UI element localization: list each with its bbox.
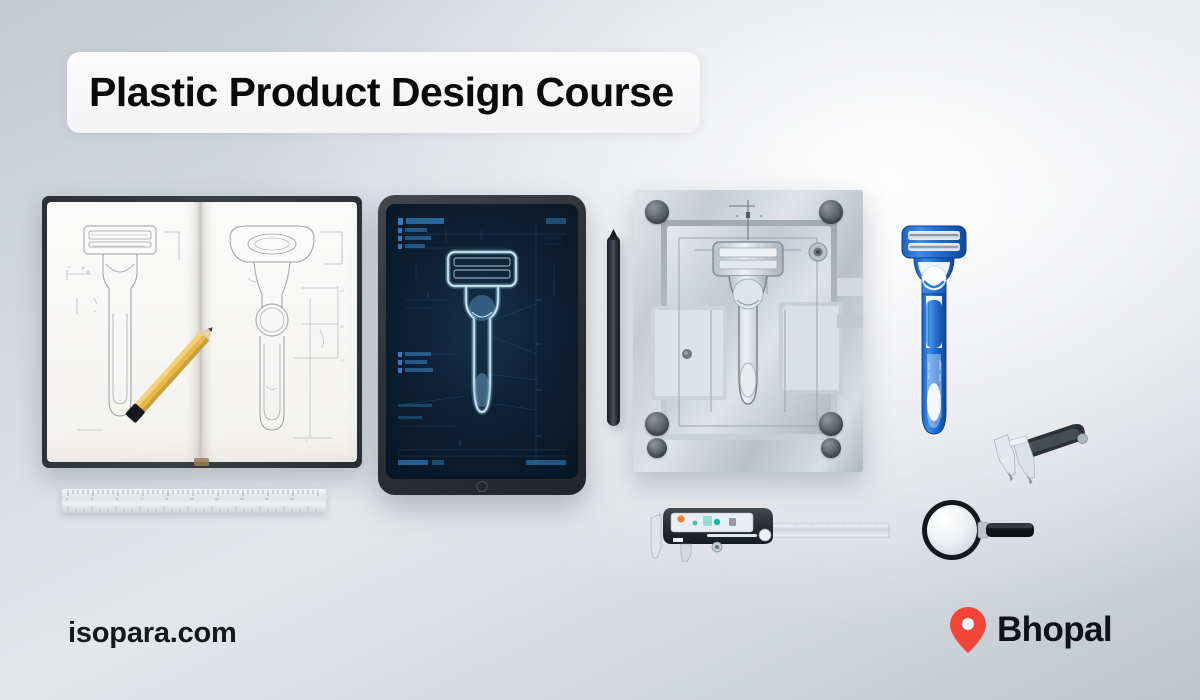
svg-text:7: 7 (141, 498, 143, 501)
svg-text:15: 15 (240, 498, 244, 501)
location-name: Bhopal (997, 610, 1112, 650)
mold-guide-pin-tl (645, 200, 669, 224)
location-badge: Bhopal (950, 607, 1112, 653)
svg-text:13: 13 (215, 498, 219, 501)
svg-text:19: 19 (290, 498, 294, 501)
svg-text:12: 12 (340, 289, 344, 293)
mold-guide-pin-tr (819, 200, 843, 224)
svg-text:5: 5 (116, 498, 118, 501)
svg-text:11: 11 (190, 498, 194, 501)
page-title: Plastic Product Design Course (89, 69, 674, 116)
book-spine-band (194, 458, 209, 466)
tablet-device[interactable] (378, 195, 586, 495)
title-card: Plastic Product Design Course (67, 52, 700, 133)
svg-text:18: 18 (340, 325, 344, 329)
mold-guide-pin-br (819, 412, 843, 436)
svg-text:ø: ø (94, 310, 96, 313)
magnifying-glass (918, 498, 1040, 564)
svg-text:1: 1 (66, 498, 68, 501)
mold-guide-pin-bl2 (647, 438, 667, 458)
poster-canvas: Plastic Product Design Course (0, 0, 1200, 700)
finished-razor (898, 222, 970, 442)
mold-guide-pin-br2 (821, 438, 841, 458)
site-url[interactable]: isopara.com (68, 617, 237, 650)
svg-text:3: 3 (91, 498, 93, 501)
tablet-home-indicator[interactable] (477, 481, 488, 492)
svg-text:9: 9 (166, 498, 168, 501)
injection-mold (633, 190, 863, 472)
tablet-screen[interactable] (386, 204, 578, 479)
svg-text:17: 17 (265, 498, 269, 501)
steel-ruler: 1357 9111315 1719 (62, 489, 326, 513)
svg-text:24: 24 (340, 359, 344, 363)
vernier-caliper (988, 423, 1096, 493)
mold-guide-pin-bl (645, 412, 669, 436)
svg-text:L: L (306, 439, 308, 443)
digital-caliper (645, 500, 891, 562)
svg-text:R: R (68, 266, 70, 269)
stylus-pen (607, 236, 620, 426)
map-pin-icon (950, 607, 986, 653)
pencil (104, 312, 232, 440)
